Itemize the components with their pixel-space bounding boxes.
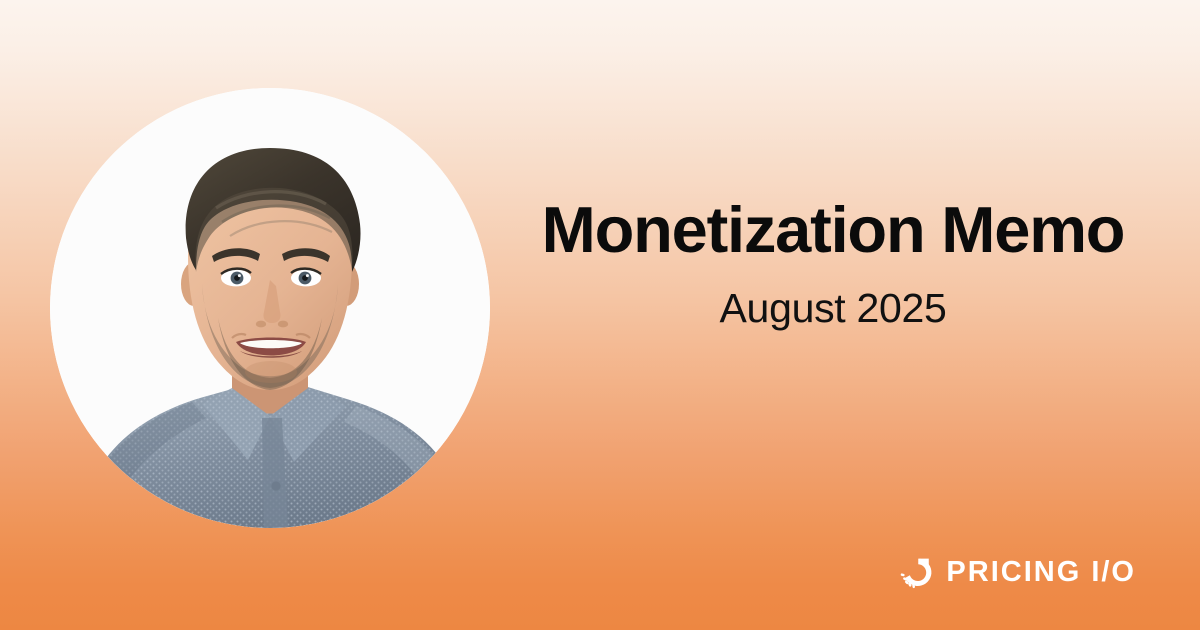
monetization-memo-banner: Monetization Memo August 2025 PRICING I/… <box>0 0 1200 630</box>
avatar <box>50 88 490 528</box>
page-subtitle: August 2025 <box>533 286 1133 331</box>
title-block: Monetization Memo August 2025 <box>533 196 1133 331</box>
page-title: Monetization Memo <box>533 196 1133 264</box>
headshot-portrait-illustration <box>50 88 490 528</box>
brand-wordmark: PRICING I/O <box>946 558 1136 587</box>
brand-logo: PRICING I/O <box>898 554 1136 590</box>
pricing-io-spiral-icon <box>898 554 934 590</box>
